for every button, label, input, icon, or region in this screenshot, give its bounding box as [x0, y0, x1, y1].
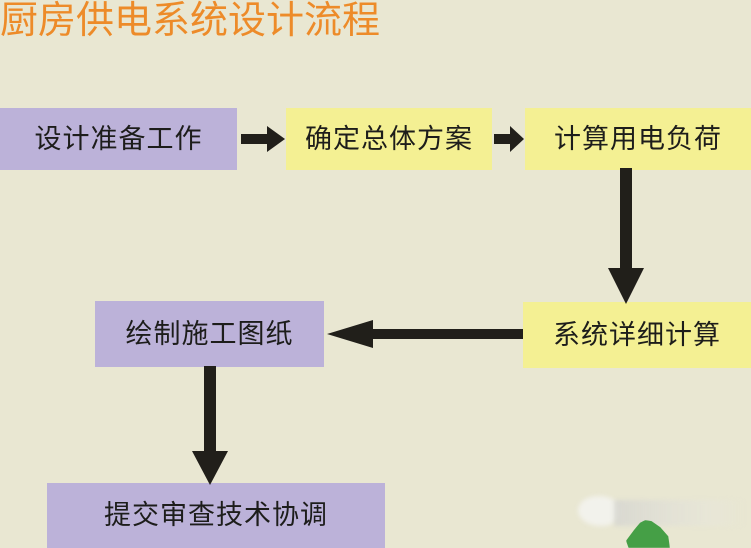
watermark-leaf-icon: [626, 520, 670, 548]
watermark-cloud-icon: [578, 496, 620, 526]
flow-node-label: 设计准备工作: [35, 126, 203, 153]
watermark: [578, 492, 751, 548]
arrow-right-icon: [494, 123, 524, 155]
page-title: 厨房供电系统设计流程: [0, 0, 380, 44]
arrow-right-icon: [241, 123, 285, 155]
flowchart-canvas: 厨房供电系统设计流程 设计准备工作 确定总体方案 计算用电负荷 系统详细计算 绘…: [0, 0, 751, 548]
flow-node-design-preparation[interactable]: 设计准备工作: [0, 108, 237, 170]
arrow-down-icon: [190, 366, 230, 485]
flow-node-submit-review-coordination[interactable]: 提交审查技术协调: [47, 483, 385, 548]
flow-node-calculate-load[interactable]: 计算用电负荷: [525, 108, 751, 170]
flow-node-system-detailed-calculation[interactable]: 系统详细计算: [523, 302, 751, 368]
arrow-left-icon: [327, 317, 523, 351]
flow-node-label: 系统详细计算: [553, 322, 721, 349]
flow-node-construction-drawings[interactable]: 绘制施工图纸: [95, 301, 324, 367]
flow-node-overall-scheme[interactable]: 确定总体方案: [286, 108, 492, 170]
watermark-text-blur: [614, 500, 744, 526]
flow-node-label: 确定总体方案: [305, 126, 473, 153]
flow-node-label: 绘制施工图纸: [126, 321, 294, 348]
arrow-down-icon: [606, 168, 646, 304]
flow-node-label: 提交审查技术协调: [104, 502, 328, 529]
flow-node-label: 计算用电负荷: [554, 126, 722, 153]
